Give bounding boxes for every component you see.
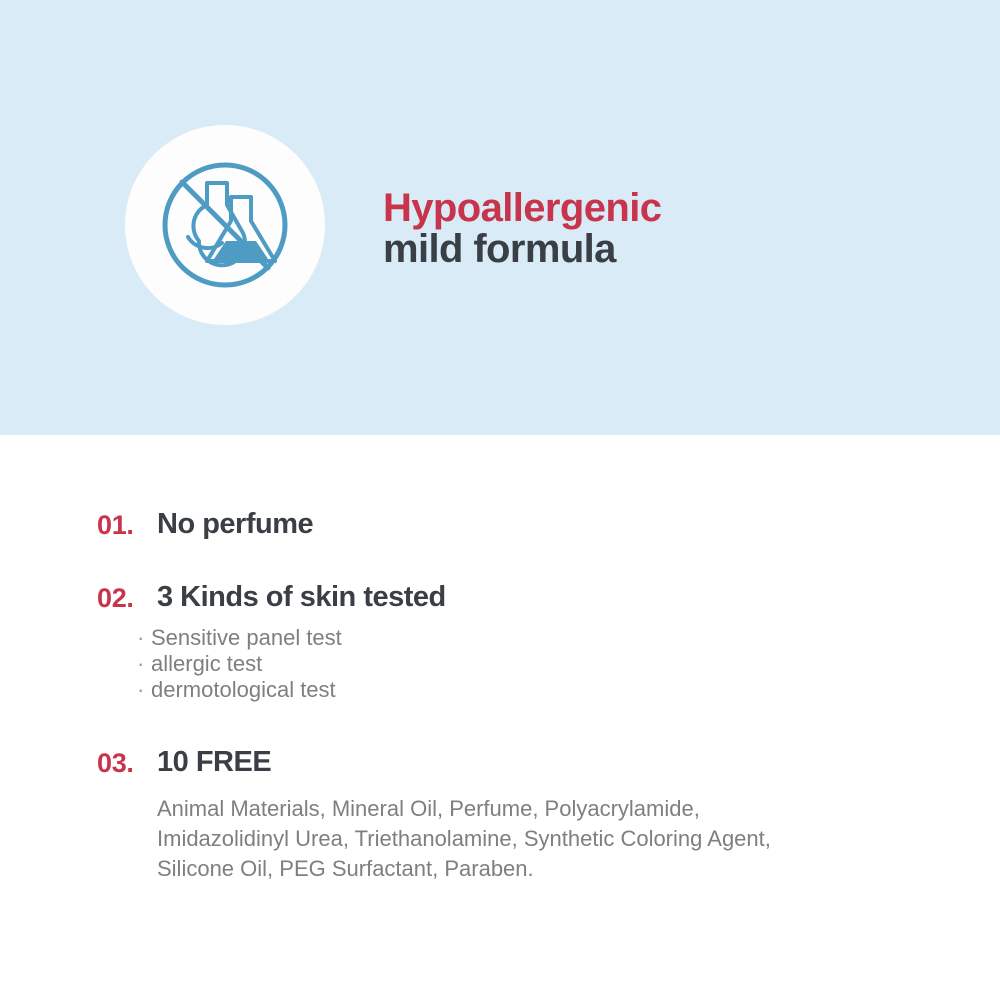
feature-heading: 03. 10 FREE	[0, 748, 1000, 788]
ingredient-line: Animal Materials, Mineral Oil, Perfume, …	[157, 794, 947, 824]
hero-panel: Hypoallergenic mild formula	[0, 0, 1000, 435]
list-item: ·Sensitive panel test	[137, 625, 342, 651]
feature-number: 02.	[97, 583, 134, 614]
free-from-ingredients: Animal Materials, Mineral Oil, Perfume, …	[157, 794, 947, 884]
feature-item-02: 02. 3 Kinds of skin tested ·Sensitive pa…	[0, 583, 1000, 623]
feature-number: 03.	[97, 748, 134, 779]
feature-number: 01.	[97, 510, 134, 541]
skin-test-bullets: ·Sensitive panel test ·allergic test ·de…	[137, 625, 342, 703]
product-infographic: Hypoallergenic mild formula 01. No perfu…	[0, 0, 1000, 1000]
feature-heading: 01. No perfume	[0, 510, 1000, 550]
icon-circle-badge	[125, 125, 325, 325]
feature-title: No perfume	[157, 508, 313, 541]
feature-title: 10 FREE	[157, 746, 271, 779]
list-item: ·dermotological test	[137, 677, 342, 703]
list-item: ·allergic test	[137, 651, 342, 677]
bullet-label: Sensitive panel test	[151, 625, 342, 650]
bullet-label: dermotological test	[151, 677, 336, 702]
feature-item-01: 01. No perfume	[0, 510, 1000, 550]
feature-title: 3 Kinds of skin tested	[157, 581, 446, 614]
bullet-label: allergic test	[151, 651, 262, 676]
ingredient-line: Imidazolidinyl Urea, Triethanolamine, Sy…	[157, 824, 947, 854]
feature-item-03: 03. 10 FREE Animal Materials, Mineral Oi…	[0, 748, 1000, 788]
ingredient-line: Silicone Oil, PEG Surfactant, Paraben.	[157, 854, 947, 884]
feature-heading: 02. 3 Kinds of skin tested	[0, 583, 1000, 623]
hero-title-line1: Hypoallergenic	[383, 188, 661, 229]
bullet-dot-icon: ·	[137, 677, 151, 703]
no-chemicals-icon	[153, 153, 297, 297]
bullet-dot-icon: ·	[137, 651, 151, 677]
hero-title-line2: mild formula	[383, 229, 661, 270]
hero-title: Hypoallergenic mild formula	[383, 188, 661, 270]
features-list: 01. No perfume 02. 3 Kinds of skin teste…	[0, 435, 1000, 1000]
bullet-dot-icon: ·	[137, 625, 151, 651]
